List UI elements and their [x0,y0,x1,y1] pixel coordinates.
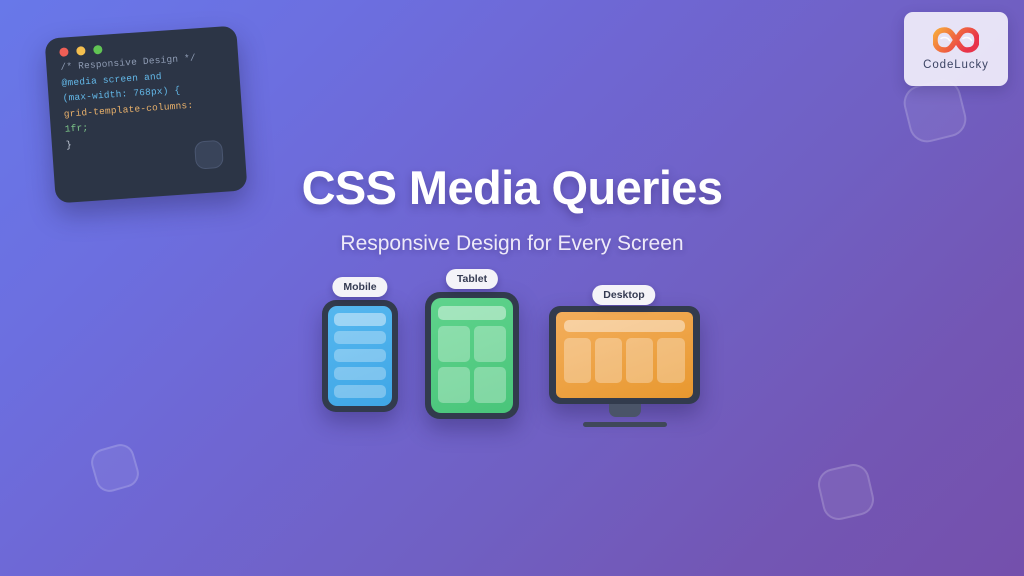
codelucky-logo[interactable]: CodeLucky [904,12,1008,86]
device-label-mobile: Mobile [332,277,387,297]
desktop-header-block [564,320,685,332]
mobile-block-5 [334,385,386,398]
tablet-screen [431,298,513,413]
desktop-column-4 [657,338,685,383]
window-close-dot [59,47,69,57]
tablet-header-block [438,306,506,320]
floating-square-bottom-left [88,441,142,495]
page-subtitle: Responsive Design for Every Screen [0,232,1024,256]
desktop-column-1 [564,338,591,383]
tablet-block-3 [438,367,470,403]
tablet-block-1 [438,326,470,362]
monitor-neck [609,404,641,417]
window-maximize-dot [93,45,103,55]
window-traffic-lights [59,45,103,57]
mobile-screen [328,306,392,406]
logo-text: CodeLucky [923,59,989,71]
mobile-block-2 [334,331,386,344]
desktop-column-2 [595,338,622,383]
infinity-icon [933,27,979,58]
device-showcase: Mobile Tablet Desktop [0,272,1024,442]
floating-square-bottom-right [815,461,877,523]
device-label-tablet: Tablet [446,269,498,289]
floating-square-top-right [900,76,970,146]
tablet-block-2 [474,326,506,362]
page-title: CSS Media Queries [0,160,1024,215]
monitor-base [583,422,667,427]
mobile-block-1 [334,313,386,326]
device-label-desktop: Desktop [592,285,655,305]
desktop-column-3 [626,338,653,383]
mobile-block-4 [334,367,386,380]
tablet-block-4 [474,367,506,403]
window-minimize-dot [76,46,86,56]
mobile-block-3 [334,349,386,362]
desktop-screen [556,312,693,398]
